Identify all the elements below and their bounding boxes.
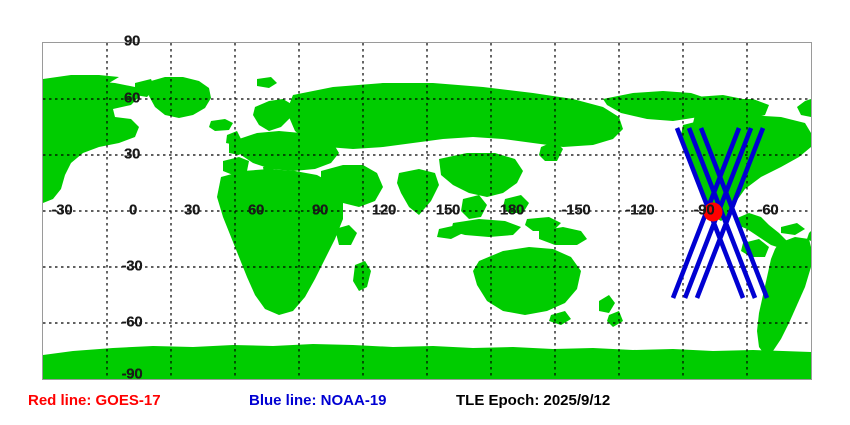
- asia-landmass: [289, 83, 623, 149]
- southeast-asia-landmass: [439, 153, 523, 197]
- indonesia-landmass: [451, 219, 521, 237]
- world-map-canvas: [43, 43, 811, 379]
- legend-tle-epoch: TLE Epoch: 2025/9/12: [456, 392, 610, 409]
- legend-goes17: Red line: GOES-17: [28, 392, 161, 409]
- map-legend: Red line: GOES-17 Blue line: NOAA-19 TLE…: [0, 392, 850, 422]
- madagascar-landmass: [353, 261, 371, 291]
- africa-landmass: [217, 169, 343, 315]
- australia-landmass: [473, 247, 581, 315]
- iceland-landmass: [209, 119, 233, 131]
- goes17-position-marker: [704, 203, 723, 222]
- map-plot-frame: [42, 42, 812, 380]
- india-landmass: [397, 169, 439, 215]
- greenland-landmass: [149, 77, 211, 118]
- legend-noaa19: Blue line: NOAA-19: [249, 392, 387, 409]
- new-zealand-landmass: [599, 295, 615, 313]
- satellite-tracking-map: 90 60 30 -30 -60 -90 -30 0 30 60 90 120 …: [0, 0, 850, 425]
- scandinavia-landmass: [253, 99, 293, 131]
